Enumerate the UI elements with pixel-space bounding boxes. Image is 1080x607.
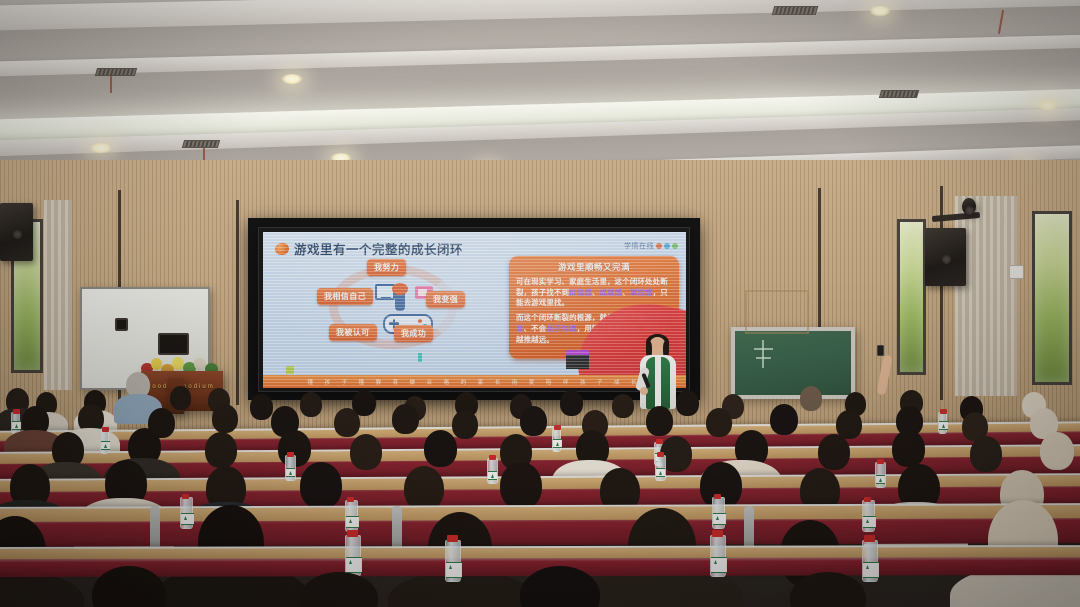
bottle-cap-icon (864, 497, 871, 502)
desk-surface-5 (0, 547, 1080, 559)
bottle-cap-icon (714, 494, 721, 499)
bottle-cap-icon (347, 497, 354, 502)
head-r2-13 (770, 404, 798, 435)
head-r1-7 (250, 394, 273, 420)
presentation-slide: 游戏里有一个完整的成长闭环 学情在线 我努力 我相信 (263, 232, 686, 388)
lecture-hall-photo: wooden-podium 游戏里有一个完整的成长闭环 学情在线 (0, 0, 1080, 607)
light-switch-plate[interactable] (1009, 265, 1024, 279)
bottle-cap-icon (13, 409, 20, 414)
window-frame-right-2 (1032, 211, 1072, 385)
cycle-label-success: 我成功 (394, 325, 433, 342)
cycle-label-effort: 我努力 (367, 259, 406, 276)
joystick-icon (395, 289, 405, 311)
water-bottle-9 (285, 455, 296, 481)
head-r2-9 (520, 406, 547, 436)
logo-chip-icon (656, 243, 662, 249)
water-bottle-15 (712, 497, 725, 529)
callout-p1-hl2: 成就感 (600, 288, 623, 297)
screen-artifact-1 (566, 354, 589, 369)
bottle-label (488, 471, 497, 480)
bottle-label (181, 513, 194, 525)
water-bottle-17 (345, 535, 361, 577)
head-r3-5 (350, 434, 382, 470)
callout-p1-hl3: 掌控感 (630, 288, 653, 297)
phone-raised (877, 345, 884, 356)
head-r2-8 (452, 410, 478, 439)
water-bottle-11 (655, 455, 666, 481)
air-vent-left (95, 68, 137, 76)
bottle-cap-icon (182, 494, 189, 499)
presenter-hand (640, 387, 648, 395)
bottle-cap-icon (712, 530, 723, 537)
air-vent-right (772, 6, 819, 15)
green-chalkboard (731, 327, 855, 399)
logo-chip-3-icon (672, 243, 678, 249)
ceiling-camera (962, 198, 976, 215)
vent-stem-left (110, 76, 112, 93)
ceiling-downlight-4 (1037, 100, 1059, 111)
callout-p1-seg1: 、 (592, 288, 600, 297)
slide-title-row: 游戏里有一个完整的成长闭环 (275, 239, 463, 258)
led-screen[interactable]: 游戏里有一个完整的成长闭环 学情在线 我努力 我相信 (258, 227, 690, 392)
head-r3-14 (1040, 432, 1074, 470)
water-bottle-18 (445, 540, 461, 582)
air-vent-low (182, 140, 220, 148)
head-r2-4 (212, 404, 238, 433)
water-bottle-20 (862, 540, 878, 582)
bottle-cap-icon (554, 425, 561, 430)
gamepad-button-a-icon (418, 319, 422, 323)
callout-p1-hl1: 价值感 (569, 288, 592, 297)
head-r1-15 (676, 390, 699, 416)
ceiling-downlight-1 (281, 74, 303, 85)
wall-speaker-left (0, 203, 33, 261)
screen-artifact-2 (566, 350, 589, 355)
water-bottle-4 (938, 412, 947, 434)
bottle-cap-icon (447, 535, 458, 542)
water-bottle-10 (487, 458, 498, 484)
chalk-stroke-2 (754, 348, 773, 350)
window-frame-right-1 (897, 219, 926, 375)
screen-artifact-3 (418, 353, 422, 362)
bottle-label (863, 562, 879, 578)
logo-chip-2-icon (664, 243, 670, 249)
head-r1-17 (800, 386, 822, 411)
head-r3-12 (892, 430, 925, 467)
seat-row-band-4 (0, 503, 1080, 547)
bottle-cap-icon (347, 530, 358, 537)
head-r3-3 (205, 432, 237, 468)
callout-p2-hl2: 亲子沟通 (546, 324, 576, 333)
bottle-label (713, 513, 726, 525)
bottle-cap-icon (864, 535, 875, 542)
bottle-cap-icon (657, 452, 664, 457)
bottle-label (12, 421, 21, 430)
wall-door-frame (745, 290, 809, 334)
curtain-left (44, 200, 72, 390)
wall-seam-2 (236, 200, 239, 405)
head-r1-14 (612, 394, 634, 418)
head-r1-8 (300, 392, 322, 417)
chalk-stroke-3 (756, 357, 771, 359)
head-r2-7 (392, 404, 419, 434)
callout-p1-seg2: 、 (622, 288, 630, 297)
head-r2-11 (646, 406, 673, 436)
desk-surface-4 (0, 505, 1080, 522)
bottle-label (346, 516, 359, 528)
head-r3-11 (818, 434, 850, 470)
slide-logo-text: 学情在线 (624, 241, 654, 251)
presenter-vest (646, 357, 670, 409)
water-bottle-13 (180, 497, 193, 529)
head-r6-2 (300, 572, 378, 607)
bullet-dot-icon (274, 241, 290, 256)
bottle-label (286, 468, 295, 477)
bottle-label (656, 468, 665, 477)
slide-logo: 学情在线 (624, 241, 678, 251)
shoulders-r5-1 (0, 572, 84, 607)
bottle-label (939, 421, 948, 430)
cycle-label-stronger: 我变强 (426, 291, 465, 308)
water-bottle-5 (100, 430, 109, 454)
bottle-label (553, 439, 562, 448)
wall-speaker-right (925, 228, 966, 286)
head-r1-5 (170, 386, 191, 410)
ceiling-downlight-5 (869, 6, 891, 17)
podium-monitor-small (115, 318, 128, 331)
bottle-cap-icon (940, 409, 947, 414)
head-r3-6 (424, 430, 457, 467)
chalk-stroke-1 (762, 340, 764, 368)
ceiling-downlight-2 (90, 143, 112, 154)
head-r1-13 (560, 390, 583, 416)
bottle-cap-icon (489, 455, 496, 460)
water-bottle-12 (875, 462, 886, 488)
curtain-right (955, 196, 1017, 396)
head-r4-5 (404, 466, 444, 511)
podium-monitor (158, 333, 189, 355)
slide-title: 游戏里有一个完整的成长闭环 (294, 239, 463, 258)
bottle-cap-icon (287, 452, 294, 457)
bottle-label (446, 562, 462, 578)
callout-heading: 游戏里顺畅又完满 (516, 261, 672, 273)
air-vent-mid (879, 90, 919, 98)
head-r4-4 (300, 462, 342, 509)
head-r2-12 (706, 408, 732, 437)
presenter (636, 337, 680, 409)
shoulders-r5-3 (388, 572, 538, 607)
cycle-label-believe: 我相信自己 (317, 288, 373, 305)
bottle-label (346, 557, 362, 573)
bottle-label (876, 475, 885, 484)
head-r3-13 (970, 436, 1002, 472)
cycle-label-recognized: 我被认可 (329, 324, 377, 341)
callout-p2-seg1: 、不会 (524, 324, 547, 333)
bottle-label (101, 441, 110, 450)
water-bottle-19 (710, 535, 726, 577)
head-r2-6 (334, 408, 360, 437)
bottle-cap-icon (102, 427, 109, 432)
bottle-label (863, 516, 876, 528)
water-bottle-16 (862, 500, 875, 532)
slide-footer: 懂 孩 子 懂 教 育 做 合 格 的 家 长 用 爱 陪 伴 孩 子 成 长 (263, 375, 686, 388)
head-r4-6 (500, 462, 542, 509)
bottle-cap-icon (877, 459, 884, 464)
water-bottle-6 (552, 428, 561, 452)
bottle-label (711, 557, 727, 573)
water-bottle-14 (345, 500, 358, 532)
screen-artifact-4 (286, 366, 294, 374)
